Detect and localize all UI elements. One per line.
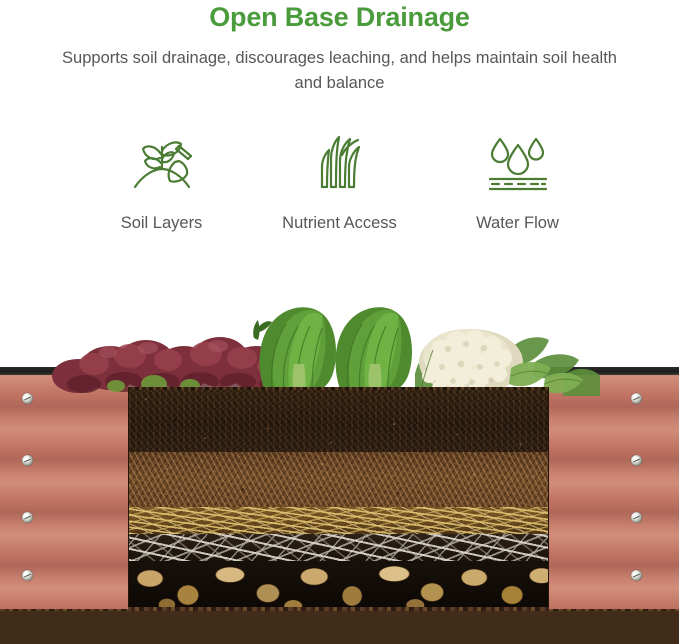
bed-panel-left	[0, 367, 128, 609]
ground-soil	[0, 607, 679, 644]
plant-group	[40, 292, 600, 392]
screw	[631, 570, 642, 581]
feature-soil-layers: Soil Layers	[73, 133, 251, 236]
soil-layer-twigs	[129, 534, 549, 561]
plant-shovel-icon	[127, 133, 197, 195]
soil-cross-section	[128, 390, 549, 607]
screw	[631, 393, 642, 404]
water-droplets-flow-icon	[482, 133, 554, 195]
bed-panel-right	[549, 367, 679, 609]
soil-layer-compost	[129, 452, 549, 507]
header: Open Base Drainage Supports soil drainag…	[0, 0, 679, 96]
screw	[22, 512, 33, 523]
feature-nutrient-access: Nutrient Access	[251, 133, 429, 236]
feature-label: Water Flow	[476, 211, 559, 236]
cauliflower	[415, 312, 600, 396]
screw	[22, 570, 33, 581]
screw	[22, 455, 33, 466]
feature-label: Soil Layers	[121, 211, 203, 236]
soil-layer-straw	[129, 507, 549, 534]
page-subtitle: Supports soil drainage, discourages leac…	[0, 46, 679, 96]
feature-water-flow: Water Flow	[429, 133, 607, 236]
page-title: Open Base Drainage	[0, 0, 679, 33]
screw	[22, 393, 33, 404]
product-image	[0, 282, 679, 644]
screw	[631, 512, 642, 523]
soil-layer-logs	[129, 561, 549, 607]
feature-label: Nutrient Access	[282, 211, 397, 236]
feature-list: Soil Layers Nutrient Access	[0, 133, 679, 236]
screw	[631, 455, 642, 466]
soil-layer-topsoil	[129, 390, 549, 452]
grass-blades-icon	[309, 133, 371, 195]
feature-panel: Open Base Drainage Supports soil drainag…	[0, 0, 679, 644]
